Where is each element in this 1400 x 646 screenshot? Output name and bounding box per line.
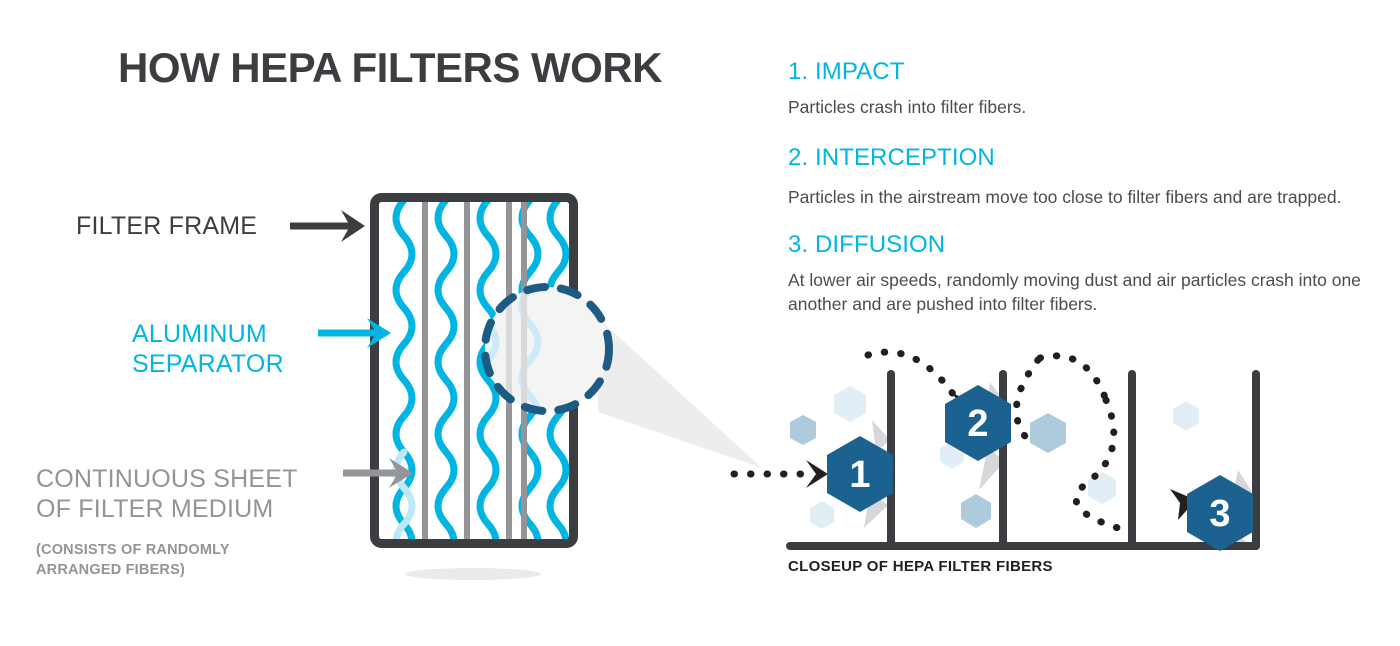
path-diffusion-c — [1076, 400, 1118, 528]
cyan-arrow-right-icon — [318, 318, 391, 348]
path-diffusion-b — [1040, 356, 1106, 400]
arrowhead-icon — [806, 460, 828, 488]
dark-arrow-right-icon — [290, 210, 365, 242]
particle — [1030, 413, 1066, 453]
magnifier-beam — [596, 316, 762, 468]
marker-label-3: 3 — [1209, 493, 1230, 535]
marker-label-1: 1 — [849, 454, 870, 496]
particle — [961, 494, 991, 528]
particle — [1173, 401, 1199, 431]
filter-shadow — [405, 568, 541, 580]
closeup-diagram: 1 2 3 — [734, 352, 1256, 551]
infographic-canvas: HOW HEPA FILTERS WORK FILTER FRAME ALUMI… — [0, 0, 1400, 646]
particle — [834, 386, 866, 422]
particle — [790, 415, 816, 445]
particle — [810, 501, 834, 529]
marker-label-2: 2 — [967, 403, 988, 445]
infographic-artwork: 1 2 3 — [0, 0, 1400, 646]
